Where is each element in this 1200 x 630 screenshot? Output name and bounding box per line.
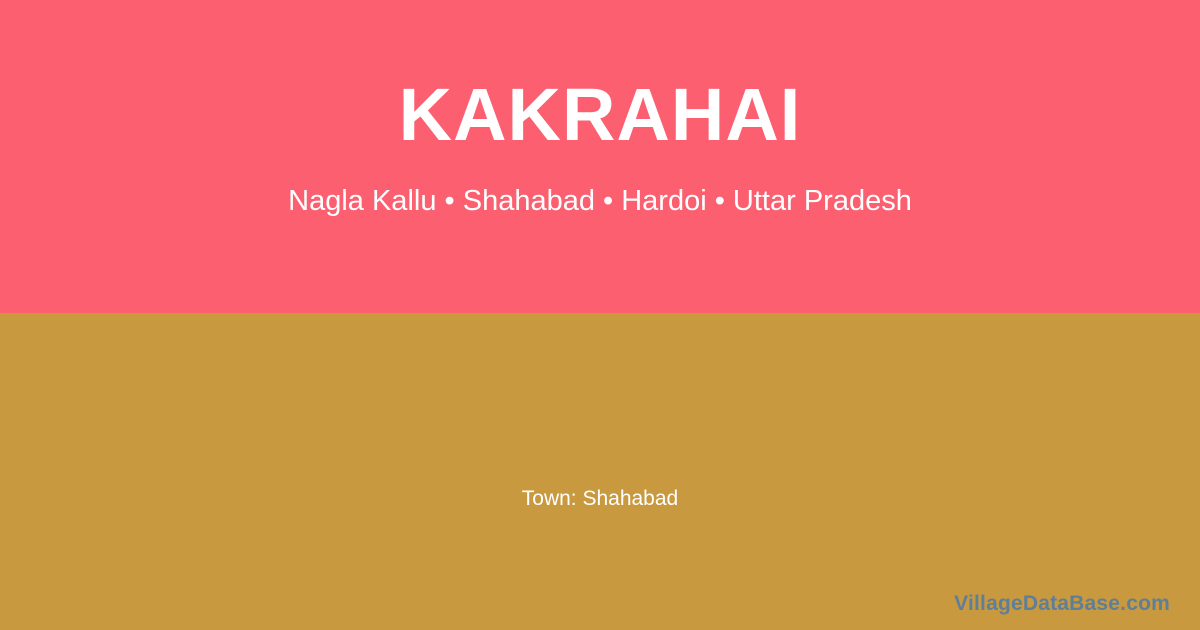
breadcrumb: Nagla Kallu • Shahabad • Hardoi • Uttar … [288,152,912,219]
site-watermark: VillageDataBase.com [954,592,1170,616]
details-panel: Town: Shahabad [0,313,1200,630]
page-title: KAKRAHAI [399,0,802,152]
town-label: Town: Shahabad [0,487,1200,511]
village-info-card: KAKRAHAI Nagla Kallu • Shahabad • Hardoi… [0,0,1200,630]
hero-banner: KAKRAHAI Nagla Kallu • Shahabad • Hardoi… [0,0,1200,313]
